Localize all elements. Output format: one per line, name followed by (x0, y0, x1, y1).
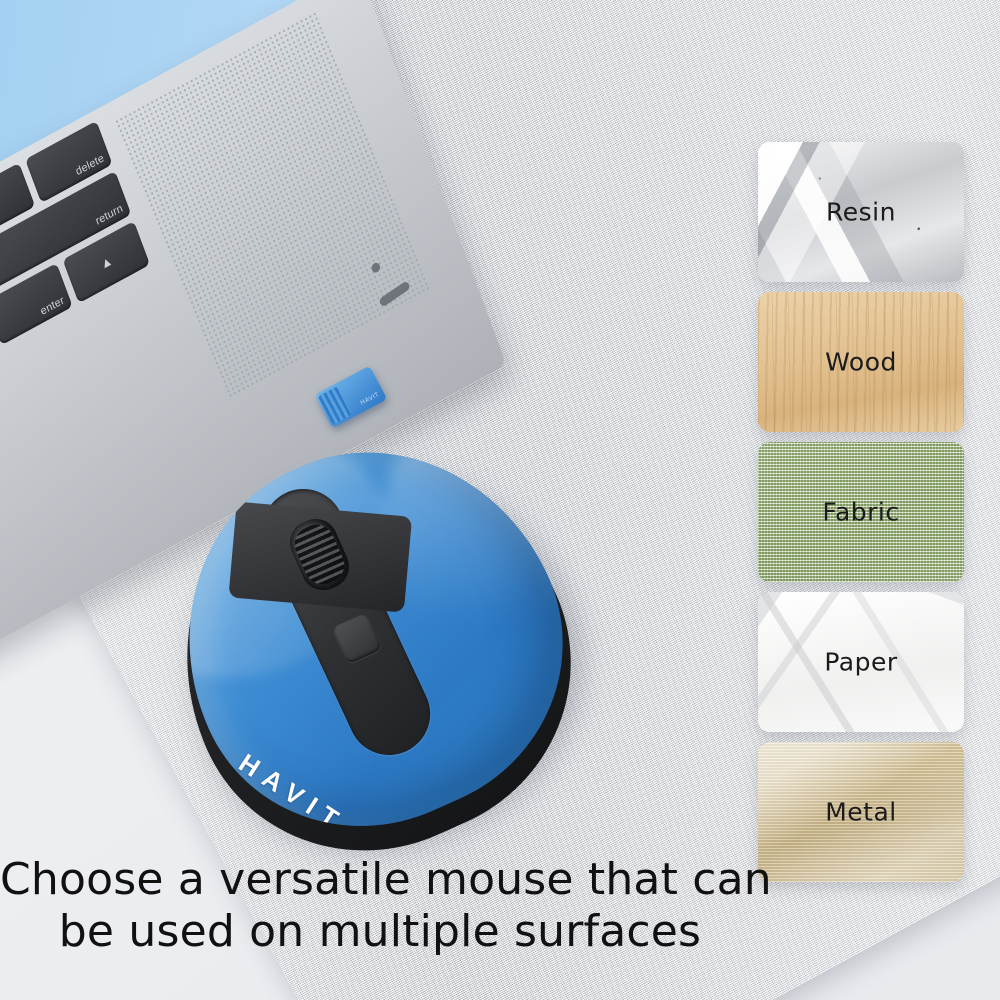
swatch-label: Wood (758, 348, 964, 377)
swatch-paper: Paper (758, 592, 964, 732)
swatch-label: Metal (758, 798, 964, 827)
swatch-label: Fabric (758, 498, 964, 527)
usb-brand-label: HAVIT (359, 391, 380, 407)
swatch-label: Resin (758, 198, 964, 227)
caption-line-2: be used on multiple surfaces (0, 906, 760, 958)
key-label: return (94, 202, 125, 228)
swatch-wood: Wood (758, 292, 964, 432)
marketing-caption: Choose a versatile mouse that can be use… (0, 854, 760, 958)
key-label: delete (74, 152, 106, 178)
key-label: ▲ (98, 252, 115, 272)
swatch-fabric: Fabric (758, 442, 964, 582)
surface-swatch-list: Resin Wood Fabric Paper Metal (758, 142, 964, 892)
product-image-canvas: ° O P { + delete = ] return shift enter … (0, 0, 1000, 1000)
key-label: enter (39, 294, 66, 318)
swatch-metal: Metal (758, 742, 964, 882)
caption-line-1: Choose a versatile mouse that can (0, 854, 760, 906)
swatch-label: Paper (758, 648, 964, 677)
swatch-resin: Resin (758, 142, 964, 282)
